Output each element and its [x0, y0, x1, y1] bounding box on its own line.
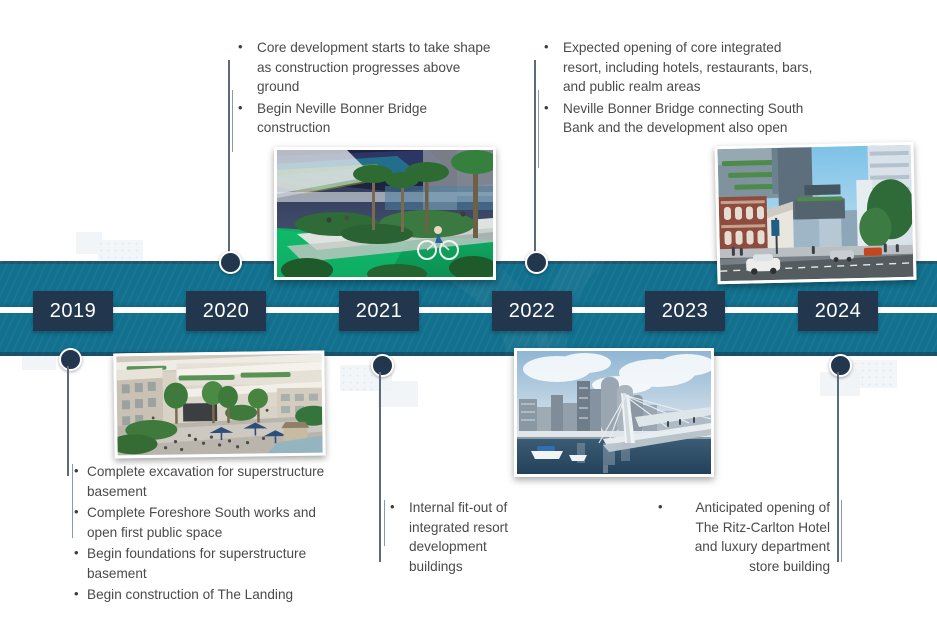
connector-line-2019 [67, 366, 69, 476]
bullet-item: Internal fit-out of integrated resort de… [384, 498, 524, 576]
connector-line-2021 [379, 372, 381, 562]
milestone-text-2022: Expected opening of core integrated reso… [538, 38, 818, 140]
year-label: 2022 [509, 300, 556, 323]
connector-dot-2023 [829, 354, 852, 377]
decorative-square [98, 240, 143, 262]
bullet-item: Neville Bonner Bridge connecting South B… [538, 99, 818, 138]
milestone-text-2020: Core development starts to take shape as… [232, 38, 492, 140]
bullet-item: Core development starts to take shape as… [232, 38, 492, 97]
year-label: 2021 [356, 300, 403, 323]
decorative-square [378, 381, 418, 407]
year-chip-2020[interactable]: 2020 [186, 291, 266, 331]
bullet-list: Complete excavation for superstructure b… [72, 462, 334, 605]
elevated-walkway-render [277, 150, 493, 277]
year-label: 2019 [50, 300, 97, 323]
city-street-render [718, 145, 914, 281]
connector-dot-2022 [525, 251, 548, 274]
year-chip-2023[interactable]: 2023 [645, 291, 725, 331]
ferry [569, 455, 587, 461]
year-label: 2024 [815, 300, 862, 323]
bullet-item: Complete excavation for superstructure b… [72, 462, 334, 501]
year-chip-2019[interactable]: 2019 [33, 291, 113, 331]
terraced-plaza-render [116, 354, 322, 456]
bullet-list: Expected opening of core integrated reso… [538, 38, 818, 138]
connector-line-2023 [837, 372, 839, 562]
connector-dot-2020 [219, 251, 242, 274]
milestone-image-2022 [514, 348, 714, 477]
bullet-item: Begin foundations for superstructure bas… [72, 544, 334, 583]
connector-line-2022 [534, 60, 536, 260]
year-label: 2020 [203, 300, 250, 323]
timeline-infographic: 2019 2020 2021 2022 2023 2024 Core devel… [0, 0, 937, 623]
year-chip-2022[interactable]: 2022 [492, 291, 572, 331]
connector-dot-2021 [371, 354, 394, 377]
milestone-text-2019: Complete excavation for superstructure b… [72, 462, 334, 607]
connector-line-2020 [228, 60, 230, 260]
bullet-item: Expected opening of core integrated reso… [538, 38, 818, 97]
connector-dot-2019 [59, 348, 82, 371]
timeline-axis-line [0, 307, 937, 313]
milestone-text-2023: Anticipated opening of The Ritz-Carlton … [672, 498, 830, 578]
text-accent-bar [841, 500, 842, 562]
year-label: 2023 [662, 300, 709, 323]
milestone-image-2023 [714, 142, 916, 284]
bullet-item: Begin construction of The Landing [72, 585, 334, 605]
year-chip-2024[interactable]: 2024 [798, 291, 878, 331]
milestone-image-2020 [274, 147, 496, 280]
milestone-image-2019 [113, 351, 325, 459]
bullet-list: Internal fit-out of integrated resort de… [384, 498, 524, 576]
year-chip-2021[interactable]: 2021 [339, 291, 419, 331]
pedestrian-bridge-render [517, 351, 711, 474]
bullet-item: Begin Neville Bonner Bridge construction [232, 99, 492, 138]
bullet-item: Complete Foreshore South works and open … [72, 503, 334, 542]
bullet-list: Core development starts to take shape as… [232, 38, 492, 138]
bullet-item: Anticipated opening of The Ritz-Carlton … [672, 498, 830, 576]
bullet-list: Anticipated opening of The Ritz-Carlton … [672, 498, 830, 576]
milestone-text-2021: Internal fit-out of integrated resort de… [384, 498, 524, 578]
